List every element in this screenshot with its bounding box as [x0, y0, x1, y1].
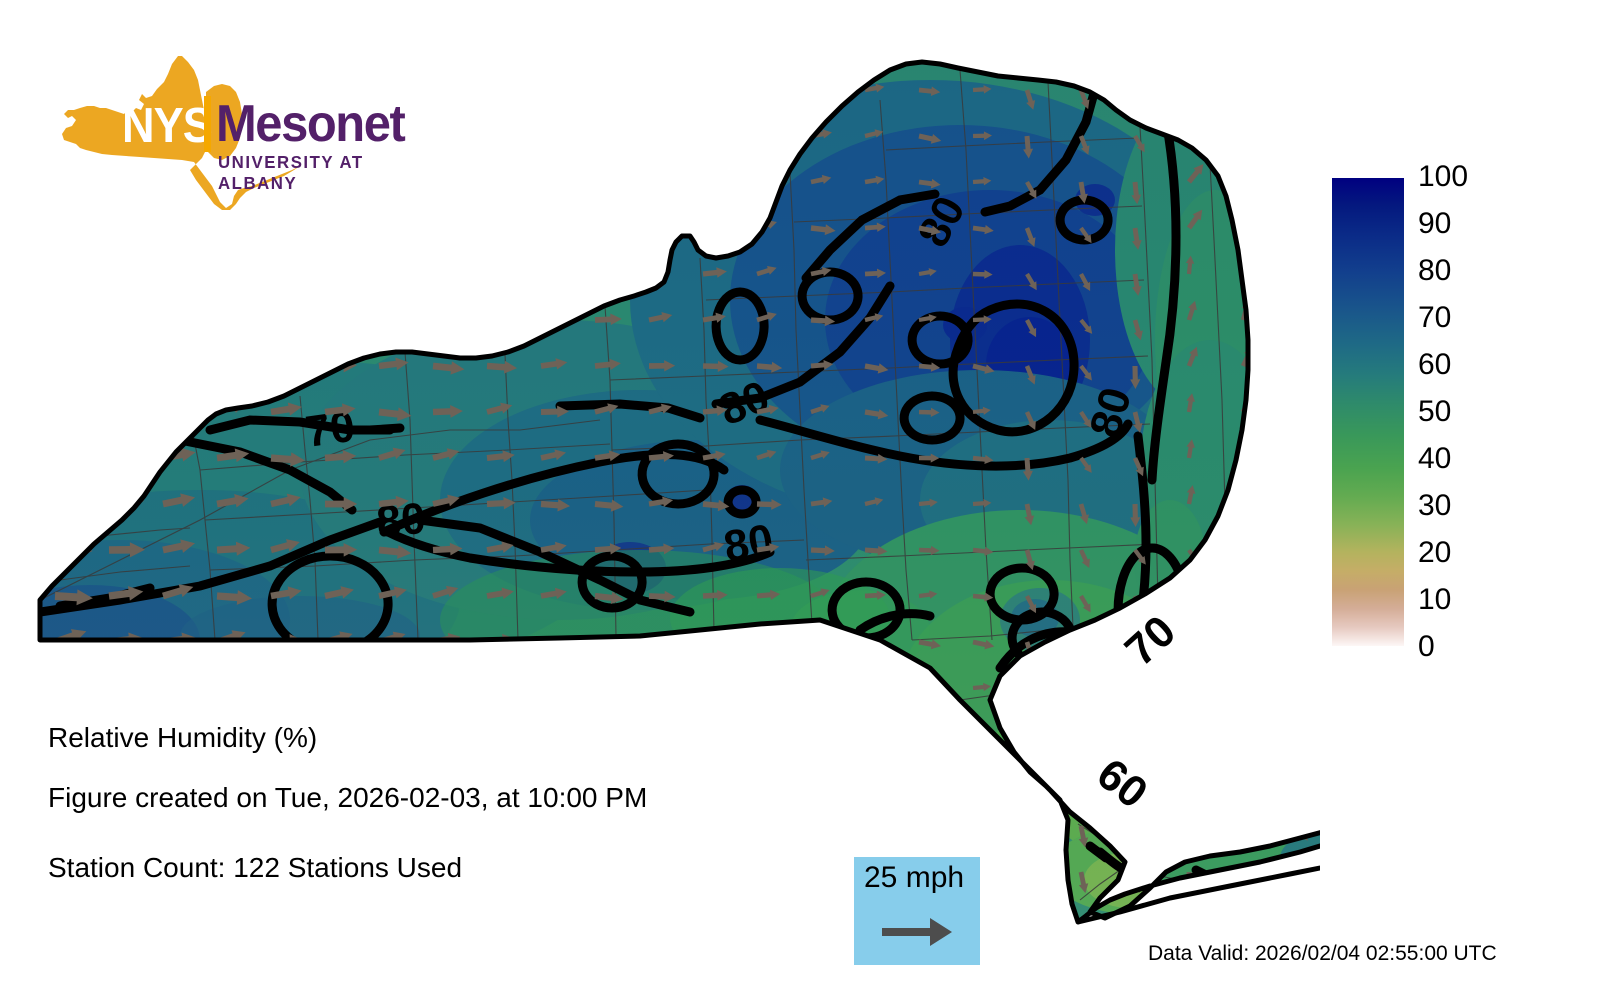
wind-arrow — [757, 775, 782, 786]
colorbar-tick: 0 — [1418, 632, 1435, 662]
wind-arrow — [216, 170, 250, 188]
wind-arrow — [541, 268, 570, 282]
wind-arrow — [378, 175, 412, 192]
wind-arrow — [810, 724, 832, 738]
wind-arrow — [55, 265, 92, 282]
wind-arrow — [1239, 548, 1255, 570]
wind-arrow — [161, 166, 195, 188]
wind-arrow — [595, 864, 622, 877]
wind-arrow — [595, 268, 624, 281]
wind-arrow — [1293, 299, 1309, 322]
wind-arrow — [54, 680, 94, 700]
wind-arrow — [1184, 780, 1196, 803]
wind-arrow — [1131, 88, 1148, 108]
wind-arrow — [107, 166, 142, 189]
colorbar-gradient — [1332, 178, 1404, 646]
wind-arrow — [1131, 732, 1148, 752]
colorbar-tick: 20 — [1418, 538, 1451, 568]
wind-arrow — [486, 124, 514, 141]
wind-arrow — [649, 865, 675, 878]
wind-arrow — [217, 817, 251, 833]
wind-arrow — [757, 729, 783, 741]
wind-arrow — [162, 215, 197, 234]
wind-arrow — [270, 359, 305, 376]
wind-arrow — [1238, 641, 1253, 664]
wind-arrow — [53, 121, 90, 143]
wind-arrow — [1293, 346, 1307, 368]
page-title: Relative Humidity (%) — [48, 722, 317, 754]
wind-arrow — [864, 679, 884, 692]
wind-arrow — [864, 775, 889, 789]
wind-arrow — [648, 125, 673, 141]
wind-arrow — [1293, 210, 1301, 228]
humidity-contour-fill — [0, 0, 1320, 960]
wind-arrow — [1185, 640, 1202, 661]
wind-arrow — [1238, 917, 1250, 940]
wind-arrow — [1293, 484, 1306, 505]
wind-arrow — [756, 909, 780, 923]
colorbar-tick: 80 — [1418, 256, 1451, 286]
wind-arrow — [216, 77, 250, 97]
wind-arrow — [1239, 116, 1253, 138]
wind-arrow — [1131, 916, 1148, 937]
wind-arrow — [217, 267, 252, 283]
wind-arrow — [649, 176, 676, 189]
wind-arrow — [54, 79, 91, 98]
wind-arrow — [810, 83, 833, 95]
wind-arrow — [1185, 595, 1200, 618]
wind-arrow — [1292, 780, 1304, 803]
wind-arrow — [703, 84, 728, 96]
wind-arrow — [486, 222, 518, 238]
wind-arrow — [539, 215, 565, 233]
wind-arrow — [1185, 72, 1194, 90]
wind-arrow — [217, 680, 251, 695]
wind-arrow — [486, 816, 515, 832]
wind-arrow — [1294, 639, 1312, 658]
wind-arrow — [1294, 686, 1311, 706]
wind-arrow — [162, 126, 197, 143]
wind-arrow — [972, 821, 997, 837]
wind-arrow — [1078, 686, 1095, 706]
wind-arrow — [161, 260, 196, 281]
wind-arrow — [594, 173, 621, 187]
wind-arrow — [109, 678, 145, 695]
wind-arrow — [648, 771, 674, 785]
wind-arrow — [810, 683, 835, 696]
wind-arrow — [1023, 871, 1038, 894]
wind-arrow — [379, 313, 410, 326]
wind-arrow — [323, 259, 354, 279]
wind-arrow — [703, 681, 728, 694]
wind-arrow — [431, 675, 460, 694]
wind-arrow — [271, 681, 304, 695]
wind-arrow — [325, 818, 357, 833]
wind-arrow — [702, 632, 726, 647]
wind-arrow — [378, 911, 412, 928]
wind-arrow — [703, 130, 729, 142]
wind-arrow — [162, 907, 197, 925]
wind-arrow — [1292, 918, 1302, 941]
wind-arrow — [1185, 916, 1202, 937]
wind-arrow — [757, 681, 781, 693]
wind-arrow — [648, 680, 674, 694]
wind-arrow — [1185, 115, 1202, 138]
wind-arrow — [108, 215, 144, 235]
wind-arrow — [541, 128, 569, 142]
wind-arrow — [648, 816, 673, 831]
wind-arrow — [215, 214, 249, 234]
wind-arrow — [1240, 732, 1257, 752]
wind-arrow — [810, 770, 832, 784]
wind-arrow — [487, 728, 517, 741]
wind-arrow — [1022, 733, 1035, 756]
wind-arrow — [1239, 686, 1256, 707]
wind-arrow — [54, 170, 91, 189]
colorbar-tick: 90 — [1418, 209, 1451, 239]
wind-arrow — [432, 816, 462, 832]
wind-speed-key: 25 mph — [854, 857, 980, 965]
wind-arrow — [703, 912, 729, 924]
wind-arrow — [919, 683, 939, 693]
wind-arrow — [1239, 208, 1251, 228]
wind-arrow — [1131, 686, 1148, 707]
wind-arrow — [1076, 733, 1090, 756]
wind-arrow — [1293, 115, 1312, 139]
wind-arrow — [1022, 918, 1033, 941]
wind-arrow — [1293, 69, 1315, 93]
wind-arrow — [1293, 256, 1301, 274]
wind-arrow — [163, 404, 198, 419]
relative-humidity-map[interactable]: 70 80 80 80 80 80 70 60 — [0, 0, 1320, 960]
wind-arrow — [811, 637, 835, 649]
wind-arrow — [217, 128, 251, 143]
wind-arrow — [271, 174, 304, 189]
colorbar — [1332, 178, 1404, 646]
wind-arrow — [594, 126, 621, 141]
wind-arrow — [703, 774, 728, 785]
wind-arrow — [433, 911, 465, 927]
wind-arrow — [756, 631, 778, 646]
wind-arrow — [540, 80, 568, 95]
colorbar-tick: 70 — [1418, 303, 1451, 333]
wind-arrow — [756, 863, 779, 877]
wind-arrow — [1293, 732, 1309, 754]
figure-created-text: Figure created on Tue, 2026-02-03, at 10… — [48, 782, 647, 814]
wind-arrow — [539, 675, 566, 693]
wind-arrow — [432, 216, 462, 234]
wind-arrow — [1292, 550, 1303, 573]
wind-arrow — [325, 911, 358, 925]
wind-arrow — [1130, 825, 1145, 848]
wind-arrow — [108, 905, 144, 925]
wind-arrow — [649, 636, 677, 649]
wind-arrow — [54, 400, 91, 419]
wind-arrow — [1024, 686, 1041, 706]
colorbar-tick: 60 — [1418, 350, 1451, 380]
colorbar-tick: 40 — [1418, 444, 1451, 474]
wind-arrow — [810, 865, 833, 877]
wind-arrow — [271, 313, 305, 328]
wind-arrow — [270, 123, 303, 142]
wind-arrow — [108, 404, 146, 422]
wind-arrow — [486, 314, 517, 330]
wind-arrow — [594, 218, 621, 233]
wind-arrow — [324, 80, 356, 96]
wind-arrow — [109, 266, 147, 284]
wind-key-label: 25 mph — [864, 861, 964, 895]
wind-arrow — [217, 911, 252, 926]
wind-arrow — [325, 221, 357, 235]
wind-arrow — [1239, 594, 1256, 615]
wind-arrow — [270, 217, 303, 235]
colorbar-tick: 50 — [1418, 397, 1451, 427]
wind-arrow — [161, 75, 195, 97]
wind-arrow — [1239, 161, 1261, 185]
colorbar-tick: 30 — [1418, 491, 1451, 521]
wind-arrow — [810, 910, 833, 923]
wind-arrow — [432, 126, 462, 142]
wind-arrow — [539, 814, 566, 831]
wind-arrow — [594, 818, 621, 832]
wind-arrow — [865, 728, 886, 738]
wind-arrow — [271, 909, 304, 925]
contour-label: 80 — [720, 515, 777, 572]
wind-arrow — [702, 220, 727, 233]
wind-arrow — [972, 775, 997, 791]
colorbar-tick-labels: 100 90 80 70 60 50 40 30 20 10 0 — [1418, 178, 1498, 646]
wind-arrow — [919, 729, 939, 738]
wind-arrow — [756, 127, 780, 141]
wind-arrow — [1184, 733, 1198, 756]
wind-arrow — [378, 676, 409, 694]
wind-arrow — [323, 673, 354, 694]
wind-arrow — [377, 76, 407, 96]
wind-arrow — [107, 443, 143, 465]
wind-arrow — [1238, 779, 1252, 802]
wind-arrow — [325, 174, 357, 189]
wind-arrow — [1293, 392, 1306, 413]
wind-arrow — [1293, 440, 1302, 458]
wind-arrow — [432, 309, 462, 326]
wind-arrow — [108, 358, 146, 376]
wind-arrow — [918, 775, 941, 788]
wind-arrow — [1238, 825, 1250, 848]
wind-arrow — [109, 818, 146, 834]
wind-arrow — [485, 859, 513, 878]
wind-arrow — [649, 221, 675, 234]
wind-arrow — [53, 487, 89, 511]
wind-arrow — [595, 727, 622, 740]
wind-arrow — [270, 79, 303, 96]
wind-arrow — [378, 129, 412, 147]
wind-arrow — [702, 861, 726, 876]
wind-arrow — [108, 80, 144, 98]
wind-arrow — [540, 173, 568, 188]
wind-arrow — [864, 818, 885, 830]
wind-arrow — [648, 725, 674, 739]
wind-arrow — [540, 861, 567, 878]
wind-arrow — [756, 79, 779, 94]
wind-arrow — [701, 815, 724, 831]
wind-arrow — [323, 123, 354, 142]
wind-arrow — [486, 172, 515, 188]
wind-arrow — [108, 124, 144, 143]
wind-arrow — [324, 310, 356, 327]
wind-arrow — [540, 723, 567, 739]
data-valid-timestamp: Data Valid: 2026/02/04 02:55:00 UTC — [1148, 942, 1497, 966]
wind-arrow — [1239, 484, 1252, 505]
wind-arrow — [162, 816, 197, 833]
wind-arrow — [216, 356, 250, 373]
wind-arrow — [486, 265, 515, 280]
wind-arrow — [702, 174, 727, 187]
wind-arrow — [432, 171, 462, 188]
wind-arrow — [540, 906, 567, 923]
wind-arrow — [1293, 161, 1314, 185]
wind-arrow — [594, 80, 621, 96]
colorbar-tick: 100 — [1418, 162, 1468, 192]
wind-arrow — [702, 726, 727, 739]
wind-arrow — [161, 673, 195, 695]
wind-arrow — [53, 304, 89, 327]
wind-arrow — [431, 260, 460, 279]
wind-arrow — [811, 820, 834, 831]
contour-label: 60 — [1088, 749, 1157, 818]
wind-arrow — [53, 350, 89, 373]
wind-arrow — [270, 814, 303, 832]
contour-label: 70 — [1116, 606, 1185, 675]
wind-arrow — [1186, 686, 1203, 706]
wind-arrow — [377, 260, 407, 279]
wind-arrow — [756, 820, 783, 834]
wind-arrow — [595, 911, 622, 923]
wind-arrow — [648, 908, 674, 923]
wind-arrow — [325, 727, 357, 741]
wind-arrow — [53, 211, 89, 235]
wind-arrow — [163, 358, 198, 374]
wind-arrow — [215, 304, 248, 326]
wind-arrow — [55, 450, 93, 467]
wind-arrow — [162, 308, 197, 327]
wind-arrow — [594, 677, 620, 693]
wind-arrow — [649, 84, 676, 96]
wind-arrow-icon — [882, 915, 954, 949]
wind-arrow — [487, 82, 516, 96]
wind-arrow — [756, 174, 780, 187]
wind-arrow — [486, 906, 514, 923]
wind-arrow — [1185, 824, 1201, 846]
wind-arrow — [377, 812, 407, 831]
wind-arrow — [108, 309, 144, 328]
wind-arrow — [1023, 824, 1040, 845]
wind-arrow — [1293, 595, 1308, 618]
wind-arrow — [432, 722, 462, 740]
station-count-text: Station Count: 122 Stations Used — [48, 852, 462, 884]
wind-arrow — [1239, 69, 1261, 93]
wind-arrow — [379, 221, 410, 234]
wind-arrow — [486, 677, 515, 693]
wind-arrow — [53, 902, 90, 925]
wind-arrow — [1076, 642, 1087, 665]
colorbar-tick: 10 — [1418, 585, 1451, 615]
wind-arrow — [433, 83, 465, 98]
wind-arrow — [378, 724, 409, 740]
wind-arrow — [269, 260, 301, 280]
wind-arrow — [919, 820, 939, 830]
